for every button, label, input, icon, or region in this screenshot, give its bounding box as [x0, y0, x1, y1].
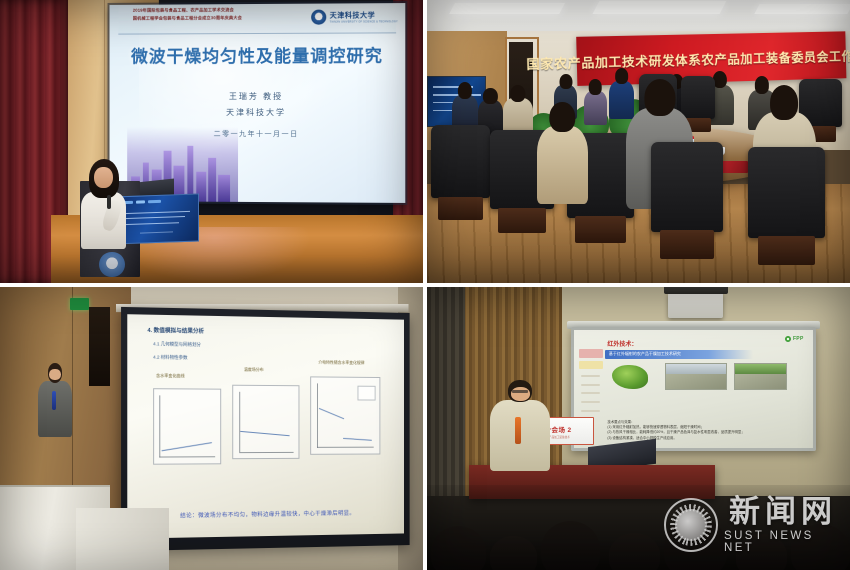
handheld-microphone — [52, 391, 56, 410]
audience-head — [664, 517, 727, 570]
equipment-photo — [665, 363, 727, 390]
slide-title: 4. 数值模拟与结果分析 — [147, 326, 204, 335]
slide-affiliation: 天津科技大学 — [109, 107, 405, 118]
ceiling-projector — [668, 293, 723, 318]
slide-body: 技术要点与效果： (1) 采用红外辐射加热，能够快速穿透物料表层，缩短干燥时间；… — [607, 420, 798, 441]
chart-caption: 介电特性随含水率变化规律 — [318, 359, 364, 365]
fpp-logo-icon — [785, 336, 791, 342]
ceiling-light — [593, 1, 727, 14]
hall-doorway — [89, 307, 110, 386]
chart-caption: 温度场分布 — [244, 367, 264, 373]
slide-title: 红外技术： — [607, 339, 637, 348]
slide-header-line1: 2019年国际包装与食品工程、农产品加工学术交流会 — [133, 7, 234, 14]
lecture-speaker — [38, 363, 72, 437]
exit-sign-icon — [70, 298, 89, 309]
conference-chair — [748, 147, 824, 238]
university-logo-text: 天津科技大学 — [330, 11, 398, 21]
panel-top-left-keynote: 2019年国际包装与食品工程、农产品加工学术交流会 国机械工程学会包装与食品工程… — [0, 0, 423, 283]
vegetable-photo — [612, 365, 648, 389]
panel-bottom-left-lecture: 4. 数值模拟与结果分析 4.1 几何模型与网格划分 4.2 材料物性参数 含水… — [0, 287, 423, 570]
projection-screen: 2019年国际包装与食品工程、农产品加工学术交流会 国机械工程学会包装与食品工程… — [109, 3, 405, 203]
keynote-speaker — [80, 159, 127, 250]
fpp-logo-text: FPP — [793, 336, 804, 342]
attendee-back — [537, 102, 588, 204]
projection-screen: 4. 数值模拟与结果分析 4.1 几何模型与网格划分 4.2 材料物性参数 含水… — [127, 314, 404, 538]
slide-presenter: 王瑞芳 教授 — [109, 91, 405, 102]
panel-bottom-right-session: FPP 红外技术： 基于红外辐射的农产品干燥加工技术研究 技术要点与 — [427, 287, 850, 570]
slide-chart — [232, 384, 298, 459]
conference-chair — [431, 125, 490, 199]
university-logo: 天津科技大学 TIANJIN UNIVERSITY OF SCIENCE & T… — [311, 6, 397, 28]
ceiling-light — [754, 4, 850, 14]
ceiling-light — [449, 3, 565, 14]
lectern-top — [76, 508, 169, 570]
panel-top-right-meeting: 国家农产品加工技术研发体系农产品加工装备委员会工作交流会 — [427, 0, 850, 283]
slide-header-line2: 国机械工程学会包装与食品工程分会成立30周年庆典大会 — [133, 15, 242, 22]
slide-date: 二零一九年十一月一日 — [109, 129, 405, 140]
audience-head — [541, 521, 600, 570]
audience-silhouettes — [427, 485, 850, 570]
photo-collage: 2019年国际包装与食品工程、农产品加工学术交流会 国机械工程学会包装与食品工程… — [0, 0, 850, 570]
slide-chart — [310, 376, 380, 454]
audience-head — [609, 533, 660, 570]
conference-chair — [651, 142, 723, 233]
slide-title: 微波干燥均匀性及能量调控研究 — [109, 41, 405, 67]
attendee — [503, 85, 533, 136]
handheld-microphone — [107, 195, 111, 209]
audience-head — [736, 534, 787, 570]
speaker-face — [94, 167, 113, 189]
fpp-logo: FPP — [785, 336, 803, 342]
chart-caption: 含水率变化曲线 — [156, 373, 185, 379]
session-sign-subtitle: 农产品加工装备技术 — [546, 435, 569, 439]
audience-head — [490, 536, 537, 570]
audience-head — [791, 524, 850, 570]
slide-bullet: 4.2 材料物性参数 — [153, 355, 187, 362]
eyeglasses-icon — [512, 390, 529, 393]
slide-footer: 结论：微波场分布不均匀，物料边缘升温较快，中心干燥滞后明显。 — [156, 508, 377, 519]
slide-subtitle-text: 基于红外辐射的农产品干燥加工技术研究 — [609, 351, 681, 357]
handheld-microphone — [515, 417, 521, 444]
whiteboard-projection: FPP 红外技术： 基于红外辐射的农产品干燥加工技术研究 技术要点与 — [571, 327, 816, 452]
podium-crest-icon — [99, 252, 124, 277]
speaker-face — [49, 369, 61, 381]
slide-bullet: 4.1 几何模型与网格划分 — [153, 341, 201, 348]
audience-head — [431, 526, 486, 570]
classroom-curtain — [427, 287, 465, 496]
slide-chart — [153, 388, 221, 464]
sidebar-tag — [579, 349, 603, 359]
sidebar-tag — [579, 361, 603, 369]
slide-subtitle-band: 基于红外辐射的农产品干燥加工技术研究 — [605, 350, 753, 359]
university-seal-icon — [311, 10, 326, 25]
university-logo-subtext: TIANJIN UNIVERSITY OF SCIENCE & TECHNOLO… — [330, 21, 398, 24]
equipment-photo — [734, 363, 787, 390]
podium-banner — [114, 194, 199, 245]
session-speaker — [490, 380, 549, 471]
speaker-face — [511, 387, 530, 401]
